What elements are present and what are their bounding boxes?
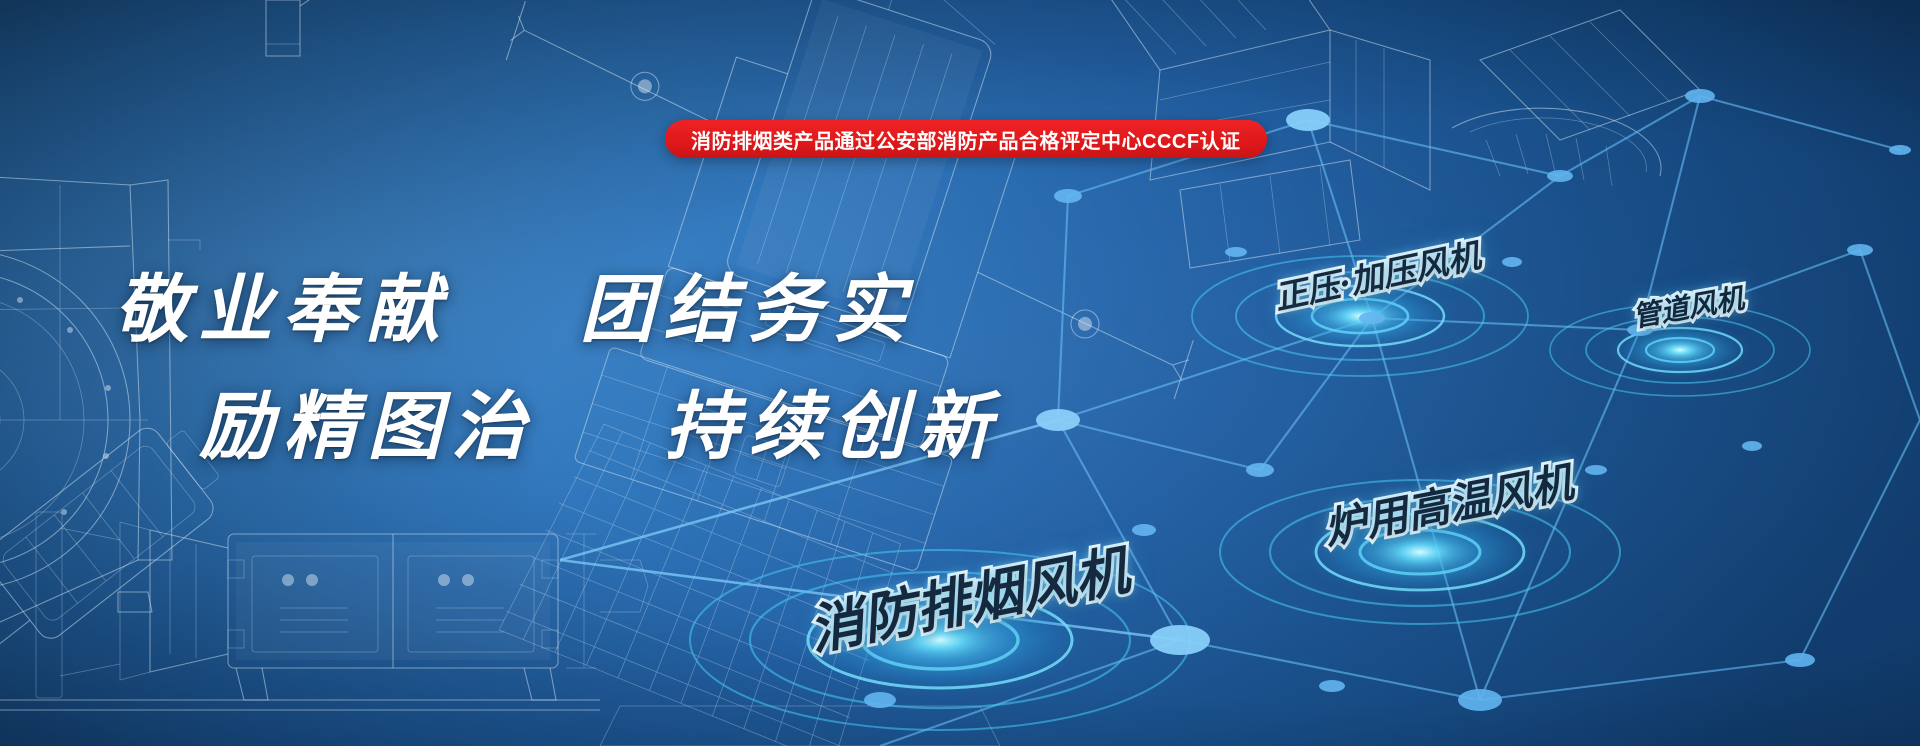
slogan-line-1-part-1: 敬业奉献 <box>114 267 450 353</box>
slogan-line-1: 敬业奉献 团结务实 <box>0 250 1060 357</box>
slogan-line-2: 励精图治 持续创新 <box>140 367 1060 474</box>
slogan-line-2-part-1: 励精图治 <box>199 384 535 470</box>
hero-banner: 消防排烟类产品通过公安部消防产品合格评定中心CCCF认证 敬业奉献 团结务实 励… <box>0 0 1920 746</box>
slogan-line-2-part-2: 持续创新 <box>665 384 1001 470</box>
slogan-block: 敬业奉献 团结务实 励精图治 持续创新 <box>0 250 1060 474</box>
slogan-line-1-part-2: 团结务实 <box>580 267 916 353</box>
certification-badge: 消防排烟类产品通过公安部消防产品合格评定中心CCCF认证 <box>665 120 1267 158</box>
